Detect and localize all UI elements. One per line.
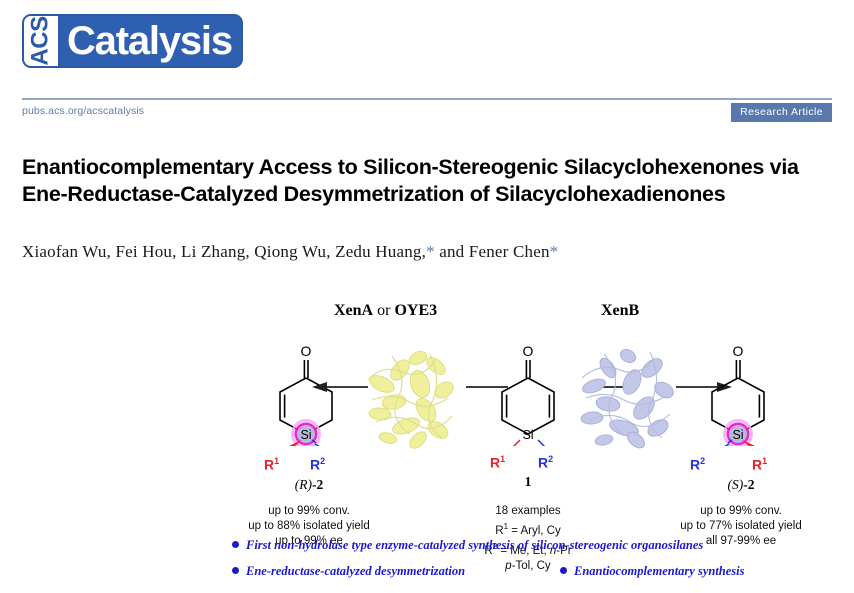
oxygen-atom-label: O [301,343,312,359]
caption-left-line-1: up to 99% conv. [192,504,426,519]
r1-superscript-right: 1 [762,456,767,466]
r1-superscript-center: 1 [500,454,505,464]
r1-label-right: R1 [752,456,767,473]
r1-letter-center: R [490,455,500,471]
r2-superscript-right: 2 [700,456,705,466]
enzyme-label-left: XenA or OYE3 [334,302,437,320]
reaction-arrow-left [312,378,368,396]
r2-bond-center [538,440,552,446]
r2-label-right: R2 [690,456,705,473]
highlight-item-2-text: Ene-reductase-catalyzed desymmetrization [246,564,465,578]
enzyme-conjunction: or [373,302,394,319]
r2-letter: R [310,457,320,473]
r1-letter: R [264,457,274,473]
acs-logo-badge: ACS [24,16,60,66]
enzyme-label-right: XenB [601,302,639,320]
bullet-dot-icon [560,567,567,574]
enzyme-ribbon-xenb [574,340,690,452]
corresponding-author-asterisk-2: * [550,242,559,261]
authors-names-secondary: and Fener Chen [435,242,550,261]
silicon-atom-label-right: Si [732,428,743,442]
journal-title-text: Catalysis [60,16,241,66]
structure-product-S-2: O Si [678,330,804,446]
oxygen-atom-label-center: O [523,343,534,359]
r1-letter-right: R [752,457,762,473]
caption-center-line-1: 18 examples [440,504,616,519]
enzyme-name-oye3: OYE3 [394,302,437,319]
r2-superscript: 2 [320,456,325,466]
silicon-atom-label: Si [300,428,311,442]
stereo-descriptor-S: (S) [728,477,744,492]
highlights-list: First non-hydrolase type enzyme-catalyze… [0,532,854,590]
highlight-item-1: First non-hydrolase type enzyme-catalyze… [232,538,703,553]
graphical-abstract: XenA or OYE3 XenB O Si R1 R2 [0,292,854,530]
bullet-dot-icon [232,541,239,548]
structure-substrate-1: O Si [468,330,588,446]
highlight-item-2: Ene-reductase-catalyzed desymmetrization [232,564,465,579]
highlight-item-3-text: Enantiocomplementary synthesis [574,564,745,578]
journal-url-link[interactable]: pubs.acs.org/acscatalysis [22,105,144,117]
enzyme-ribbon-xena-oye3 [358,340,474,452]
article-type-badge: Research Article [731,103,832,122]
oxygen-atom-label-right: O [733,343,744,359]
enzyme-name-xena: XenA [334,302,373,319]
acs-acronym-text: ACS [29,16,53,65]
author-list: Xiaofan Wu, Fei Hou, Li Zhang, Qiong Wu,… [22,242,840,262]
silicon-atom-label-center: Si [522,428,533,442]
enzyme-name-xenb: XenB [601,302,639,319]
compound-label-R-2: (R)-2 [246,477,372,493]
acs-journal-masthead: ACS Catalysis [22,14,243,68]
article-title: Enantiocomplementary Access to Silicon-S… [22,154,840,208]
compound-label-S-2: (S)-2 [678,477,804,493]
caption-right-line-1: up to 99% conv. [624,504,854,519]
r2-label-center: R2 [538,454,553,471]
compound-number-2-right: -2 [743,477,754,492]
corresponding-author-asterisk-1: * [426,242,435,261]
stereo-descriptor-R: (R) [295,477,312,492]
compound-label-1: 1 [468,475,588,491]
r1-label-center: R1 [490,454,505,471]
header-divider [22,98,832,100]
r2-superscript-center: 2 [548,454,553,464]
r2-letter-center: R [538,455,548,471]
highlight-item-3: Enantiocomplementary synthesis [560,564,745,579]
r1-superscript: 1 [274,456,279,466]
r2-label-left: R2 [310,456,325,473]
highlight-item-1-text: First non-hydrolase type enzyme-catalyze… [246,538,703,552]
r1-bond-center [506,440,520,446]
bullet-dot-icon [232,567,239,574]
authors-names-primary: Xiaofan Wu, Fei Hou, Li Zhang, Qiong Wu,… [22,242,426,261]
compound-number-2-left: -2 [312,477,323,492]
r2-letter-right: R [690,457,700,473]
